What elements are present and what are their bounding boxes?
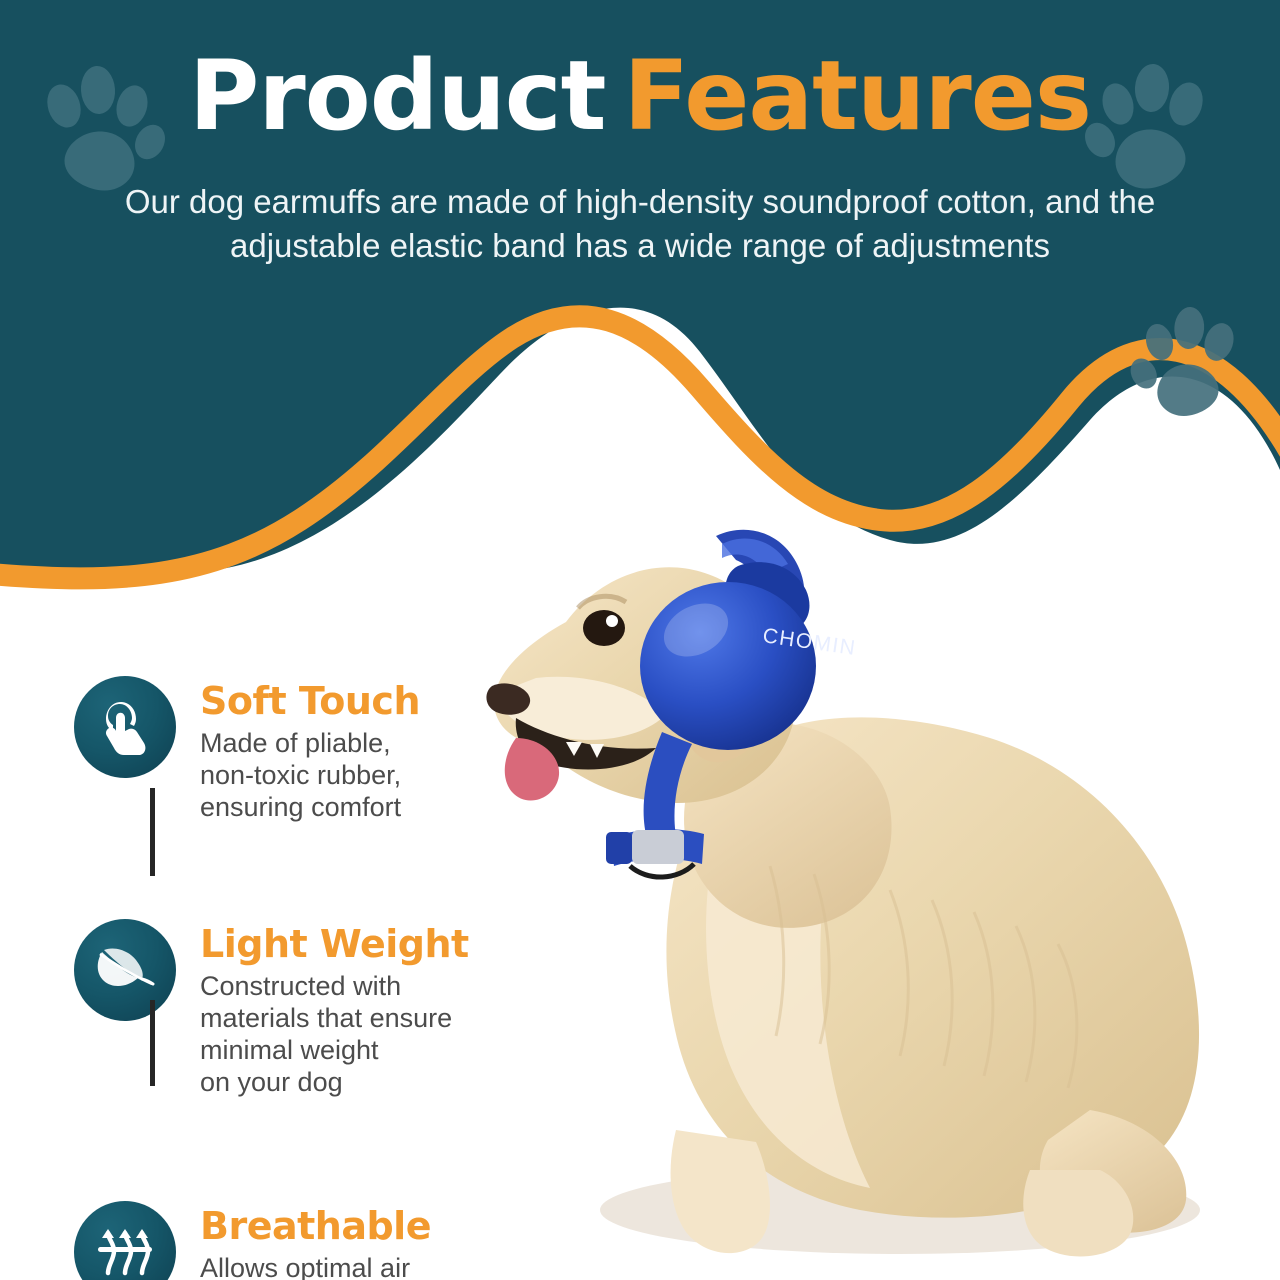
feature-icon-wrapper <box>50 1201 200 1280</box>
paw-print-icon <box>1128 302 1240 424</box>
feature-icon-circle <box>74 919 176 1021</box>
airflow-icon <box>96 1225 154 1279</box>
feature-text-block: Soft Touch Made of pliable, non-toxic ru… <box>200 676 420 823</box>
feature-title: Breathable <box>200 1207 431 1247</box>
feature-text-block: Breathable Allows optimal air circulatio… <box>200 1201 431 1280</box>
feature-description: Constructed with materials that ensure m… <box>200 971 469 1098</box>
title-accent-word: Features <box>624 48 1091 144</box>
feature-title: Soft Touch <box>200 682 420 722</box>
page-subtitle: Our dog earmuffs are made of high-densit… <box>60 180 1220 267</box>
product-photo-dog-with-earmuffs: CHOMIN <box>470 470 1280 1280</box>
title-main-word: Product <box>189 48 606 144</box>
earmuff-buckle <box>632 830 684 864</box>
dog-front-paw-right <box>1023 1170 1133 1256</box>
feature-icon-wrapper <box>50 919 200 1021</box>
feature-connector-line <box>150 788 155 876</box>
feature-item-breathable[interactable]: Breathable Allows optimal air circulatio… <box>50 1201 570 1280</box>
feature-title: Light Weight <box>200 925 469 965</box>
features-list: Soft Touch Made of pliable, non-toxic ru… <box>50 676 570 1280</box>
product-features-infographic: ProductFeatures Our dog earmuffs are mad… <box>0 0 1280 1280</box>
feature-icon-circle <box>74 1201 176 1280</box>
earmuff-cup <box>640 582 816 750</box>
feature-text-block: Light Weight Constructed with materials … <box>200 919 469 1098</box>
feature-icon-circle <box>74 676 176 778</box>
feature-description: Allows optimal air circulation; easily m… <box>200 1253 431 1280</box>
dog-eye <box>583 610 625 646</box>
feature-icon-wrapper <box>50 676 200 778</box>
dog-eye-highlight <box>606 615 618 627</box>
earmuff-buckle-clip <box>606 832 632 864</box>
airflow-bar <box>98 1247 152 1252</box>
pointing-hand-icon <box>98 698 152 756</box>
feature-description: Made of pliable, non-toxic rubber, ensur… <box>200 728 420 824</box>
feature-item-light-weight[interactable]: Light Weight Constructed with materials … <box>50 919 570 1098</box>
page-title: ProductFeatures <box>0 48 1280 144</box>
feather-icon <box>94 942 156 998</box>
feature-item-soft-touch[interactable]: Soft Touch Made of pliable, non-toxic ru… <box>50 676 570 823</box>
feature-connector-line <box>150 1000 155 1086</box>
